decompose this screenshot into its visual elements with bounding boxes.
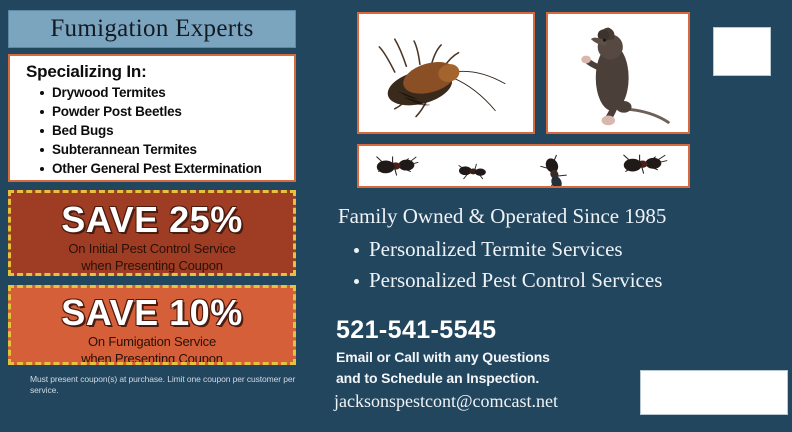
coupon-25-percent: SAVE 25% On Initial Pest Control Service… xyxy=(8,190,296,276)
list-item: Subterannean Termites xyxy=(40,140,294,159)
specialties-list: Drywood Termites Powder Post Beetles Bed… xyxy=(26,83,294,178)
list-item: Other General Pest Extermination xyxy=(40,159,294,178)
title-banner: Fumigation Experts xyxy=(8,10,296,48)
coupon-subtext-line-2: when Presenting Coupon xyxy=(11,350,293,365)
services-list: Personalized Termite Services Personaliz… xyxy=(352,234,662,296)
list-item: Bed Bugs xyxy=(40,121,294,140)
coupon-headline: SAVE 10% xyxy=(11,293,293,333)
coupon-subtext-line-1: On Fumigation Service xyxy=(11,333,293,350)
contact-instruction-line-1: Email or Call with any Questions xyxy=(336,349,550,365)
specialties-panel: Specializing In: Drywood Termites Powder… xyxy=(8,54,296,182)
ants-illustration xyxy=(359,146,688,186)
cockroach-illustration xyxy=(359,14,533,132)
advertisement-flyer: Fumigation Experts Specializing In: Dryw… xyxy=(0,0,792,432)
blank-placeholder-box-bottom xyxy=(640,370,788,415)
coupon-subtext-line-2: when Presenting Coupon xyxy=(11,257,293,274)
list-item: Personalized Pest Control Services xyxy=(352,265,662,296)
list-item: Personalized Termite Services xyxy=(352,234,662,265)
cockroach-photo xyxy=(357,12,535,134)
tagline: Family Owned & Operated Since 1985 xyxy=(338,204,666,229)
left-column: Fumigation Experts Specializing In: Dryw… xyxy=(8,10,296,426)
coupon-10-percent: SAVE 10% On Fumigation Service when Pres… xyxy=(8,285,296,365)
blank-placeholder-box-top xyxy=(713,27,771,76)
ants-photo xyxy=(357,144,690,188)
page-title: Fumigation Experts xyxy=(50,15,253,43)
list-item: Powder Post Beetles xyxy=(40,102,294,121)
phone-number[interactable]: 521-541-5545 xyxy=(336,316,497,345)
coupon-headline: SAVE 25% xyxy=(11,200,293,240)
coupon-subtext-line-1: On Initial Pest Control Service xyxy=(11,240,293,257)
list-item: Drywood Termites xyxy=(40,83,294,102)
rat-illustration xyxy=(548,14,688,132)
email-address[interactable]: jacksonspestcont@comcast.net xyxy=(334,391,558,412)
coupon-disclaimer: Must present coupon(s) at purchase. Limi… xyxy=(8,374,296,396)
contact-instruction-line-2: and to Schedule an Inspection. xyxy=(336,370,539,386)
specialties-heading: Specializing In: xyxy=(26,62,294,82)
rat-photo xyxy=(546,12,690,134)
